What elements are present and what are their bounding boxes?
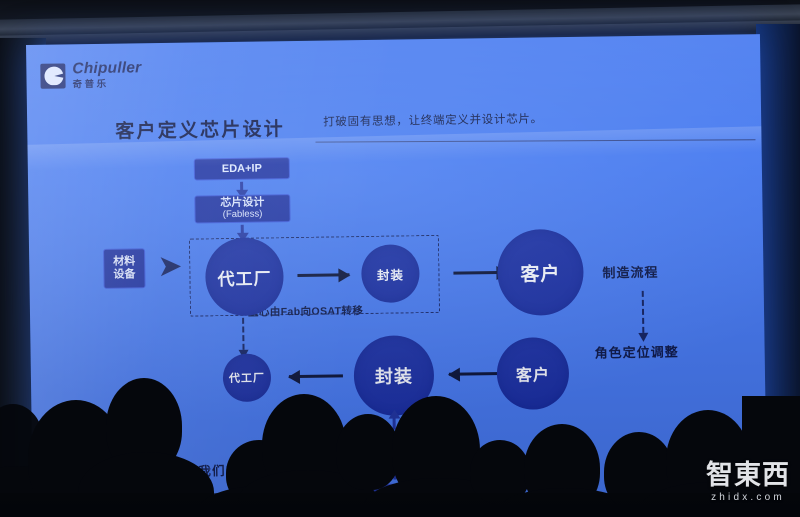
foundry-label-bottom: 代工厂 xyxy=(229,369,265,386)
arrow-fabless-to-foundry xyxy=(241,225,244,234)
materials-label-line2: 设备 xyxy=(113,268,135,281)
foreground-shadow xyxy=(0,493,800,517)
chevron-right-icon: ➤ xyxy=(157,252,183,282)
customer-circle-top: 客户 xyxy=(497,229,584,316)
logo-brand-cn: 奇普乐 xyxy=(73,79,142,90)
role-repositioning-label: 角色定位调整 xyxy=(594,341,678,361)
foundry-circle-bottom: 代工厂 xyxy=(223,353,272,402)
eda-ip-label: EDA+IP xyxy=(222,162,262,175)
company-logo: Chipuller 奇普乐 xyxy=(40,60,141,89)
materials-equipment-box: 材料 设备 xyxy=(103,248,146,289)
photo-of-conference-screen: Chipuller 奇普乐 客户定义芯片设计 打破固有思想，让终端定义并设计芯片… xyxy=(0,0,800,517)
fabless-label-en: (Fabless) xyxy=(223,209,263,221)
chipuller-logo-icon xyxy=(40,63,65,88)
arrow-eda-to-fabless xyxy=(240,182,243,191)
manufacturing-flow-label: 制造流程 xyxy=(602,262,658,282)
subtitle-divider xyxy=(315,139,755,143)
customer-label-bottom: 客户 xyxy=(516,361,550,386)
dashed-arrow-right-labels xyxy=(642,291,645,333)
watermark-en: zhidx.com xyxy=(706,492,790,503)
arrow-foundry-to-package-top xyxy=(297,273,349,277)
fabless-box: 芯片设计 (Fabless) xyxy=(194,194,290,223)
arrow-customer-to-package-bottom xyxy=(449,372,503,376)
materials-label-line1: 材料 xyxy=(113,256,135,269)
package-label-top: 封装 xyxy=(377,264,404,283)
eda-ip-box: EDA+IP xyxy=(194,157,290,180)
customer-label-top: 客户 xyxy=(520,259,560,287)
foundry-label-top: 代工厂 xyxy=(217,264,271,290)
slide-subtitle: 打破固有思想，让终端定义并设计芯片。 xyxy=(323,110,543,129)
arrow-package-to-foundry-bottom xyxy=(289,374,343,378)
slide-title: 客户定义芯片设计 xyxy=(115,114,285,144)
customer-circle-bottom: 客户 xyxy=(496,337,569,410)
package-label-bottom: 封装 xyxy=(375,362,413,389)
dashed-arrow-to-foundry-bottom xyxy=(242,318,244,350)
watermark-cn: 智東西 xyxy=(706,462,790,489)
watermark: 智東西 zhidx.com xyxy=(706,462,790,503)
audience-head-6 xyxy=(336,414,400,490)
logo-brand-en: Chipuller xyxy=(72,60,141,77)
